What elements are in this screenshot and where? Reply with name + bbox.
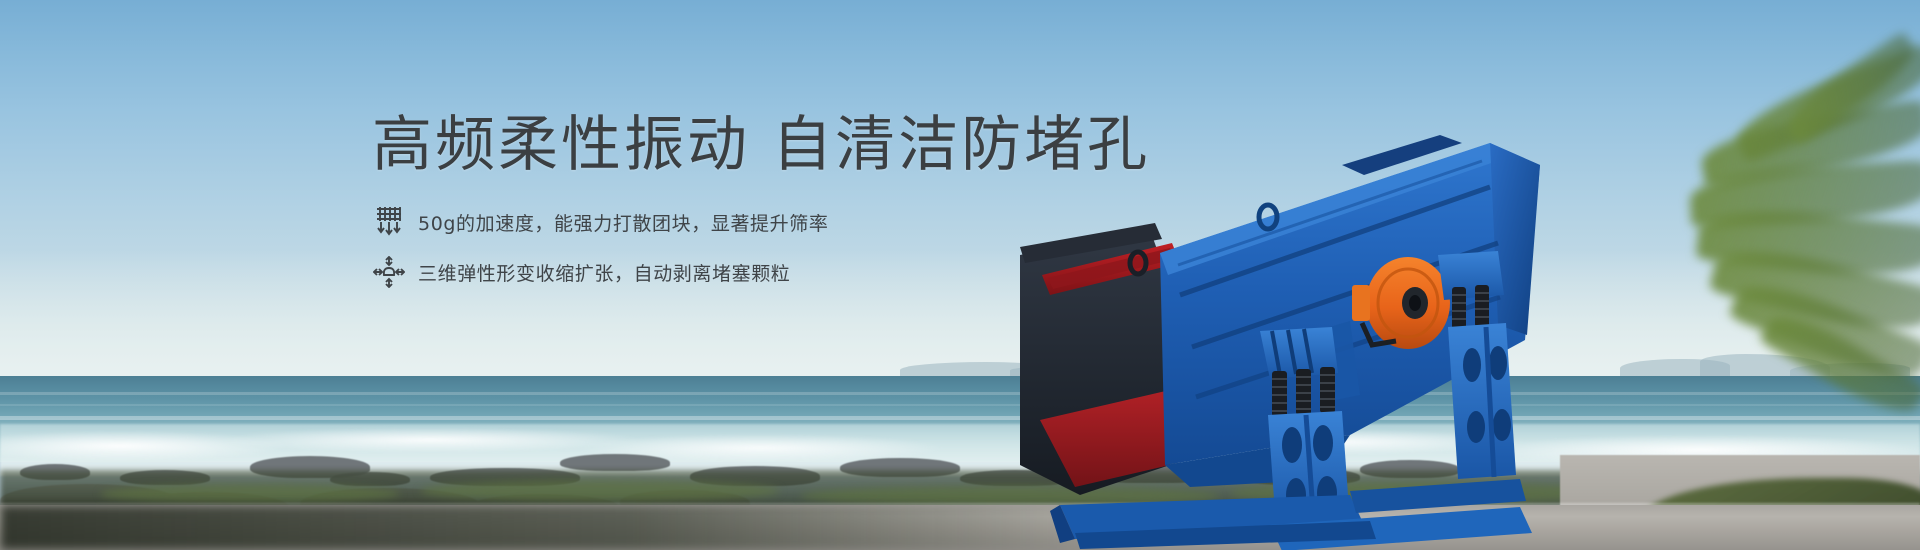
page-title: 高频柔性振动 自清洁防堵孔 xyxy=(372,112,1132,179)
wave-line xyxy=(0,404,1920,406)
sieve-mesh-downward-arrows-icon xyxy=(372,205,406,239)
hero-banner: 高频柔性振动 自清洁防堵孔 50g的加速度，能强力打散团块，显著提升筛率 xyxy=(0,0,1920,550)
list-item-label: 三维弹性形变收缩扩张，自动剥离堵塞颗粒 xyxy=(418,259,790,286)
list-item: 50g的加速度，能强力打散团块，显著提升筛率 xyxy=(372,205,1132,239)
wave-line xyxy=(0,392,1920,395)
road-shadow xyxy=(0,505,1150,550)
list-item: 三维弹性形变收缩扩张，自动剥离堵塞颗粒 xyxy=(372,255,1132,289)
feature-list: 50g的加速度，能强力打散团块，显著提升筛率 三维弹性形变收缩扩张，自动 xyxy=(372,205,1132,289)
wave-line xyxy=(0,416,1920,420)
list-item-label: 50g的加速度，能强力打散团块，显著提升筛率 xyxy=(418,209,828,236)
banner-text-block: 高频柔性振动 自清洁防堵孔 50g的加速度，能强力打散团块，显著提升筛率 xyxy=(372,112,1132,305)
distant-mountain-range xyxy=(0,300,1920,376)
four-way-expansion-arrows-icon xyxy=(372,255,406,289)
